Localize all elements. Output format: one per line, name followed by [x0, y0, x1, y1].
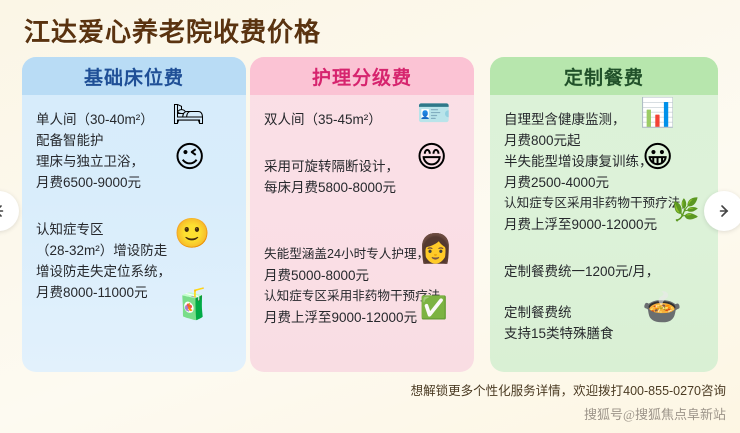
text-line: 支持15类特殊膳食: [504, 323, 708, 344]
smiling-face-icon: 🙂: [174, 220, 210, 249]
watermark-text: 搜狐号@搜狐焦点阜新站: [584, 404, 726, 423]
card-header-care: 护理分级费: [250, 57, 474, 95]
nurse-people-icon: 👩: [418, 235, 453, 263]
text-line: 单人间（30-40m²）: [36, 109, 236, 130]
arrow-left-icon: [0, 203, 7, 219]
text-line: 月费6500-9000元: [36, 172, 236, 193]
card-body-care: 双人间（35-45m²） 采用可旋转隔断设计， 每床月费5800-8000元 失…: [250, 95, 474, 372]
text-line: 配备智能护: [36, 130, 236, 151]
card-body-bed: 单人间（30-40m²） 配备智能护 理床与独立卫浴， 月费6500-9000元…: [22, 95, 246, 372]
text-block: 定制餐费统一1200元/月，: [504, 261, 708, 282]
bar-chart-icon: 📊: [640, 99, 675, 127]
beverage-box-icon: 🧃: [174, 290, 211, 320]
bed-furniture-icon: 🛏: [172, 101, 205, 127]
smiling-open-mouth-face-icon: 😀: [642, 143, 673, 173]
prev-slide-button[interactable]: [0, 191, 19, 231]
card-header-meal: 定制餐费: [490, 57, 718, 95]
pricing-card-meal: 定制餐费 自理型含健康监测， 月费800元起 半失能型增设康复训练， 月费250…: [490, 57, 718, 372]
green-check-mark-icon: ✅: [420, 297, 447, 319]
card-header-bed: 基础床位费: [22, 57, 246, 95]
grinning-face-icon: 😄: [416, 143, 447, 173]
herb-plant-icon: 🌿: [672, 199, 699, 221]
text-line: 每床月费5800-8000元: [264, 177, 464, 198]
next-slide-button[interactable]: [704, 191, 740, 231]
text-line: 半失能型增设康复训练，: [504, 151, 708, 172]
text-line: 增设防走失定位系统，: [36, 261, 236, 282]
pricing-infographic: 江达爱心养老院收费价格 基础床位费 单人间（30-40m²） 配备智能护 理床与…: [0, 0, 740, 433]
page-title: 江达爱心养老院收费价格: [18, 10, 327, 53]
text-line: 月费2500-4000元: [504, 172, 708, 193]
text-line: 月费800元起: [504, 130, 708, 151]
pricing-card-bed: 基础床位费 单人间（30-40m²） 配备智能护 理床与独立卫浴， 月费6500…: [22, 57, 246, 372]
footer-contact-text: 想解锁更多个性化服务详情，欢迎拨打400-855-0270咨询: [411, 380, 726, 399]
text-line: 自理型含健康监测，: [504, 109, 708, 130]
text-line: 定制餐费统一1200元/月，: [504, 261, 708, 282]
text-line: 月费5000-8000元: [264, 265, 464, 286]
pricing-card-care: 护理分级费 双人间（35-45m²） 采用可旋转隔断设计， 每床月费5800-8…: [250, 57, 474, 372]
rice-bowl-food-icon: 🍲: [642, 291, 682, 323]
page-title-text: 江达爱心养老院收费价格: [24, 12, 321, 49]
id-card-profile-icon: 🪪: [417, 100, 451, 127]
text-line: 理床与独立卫浴，: [36, 151, 236, 172]
winking-face-icon: 😉: [174, 143, 205, 173]
card-body-meal: 自理型含健康监测， 月费800元起 半失能型增设康复训练， 月费2500-400…: [490, 95, 718, 372]
arrow-right-icon: [716, 203, 732, 219]
text-block: 单人间（30-40m²） 配备智能护 理床与独立卫浴， 月费6500-9000元: [36, 109, 236, 193]
